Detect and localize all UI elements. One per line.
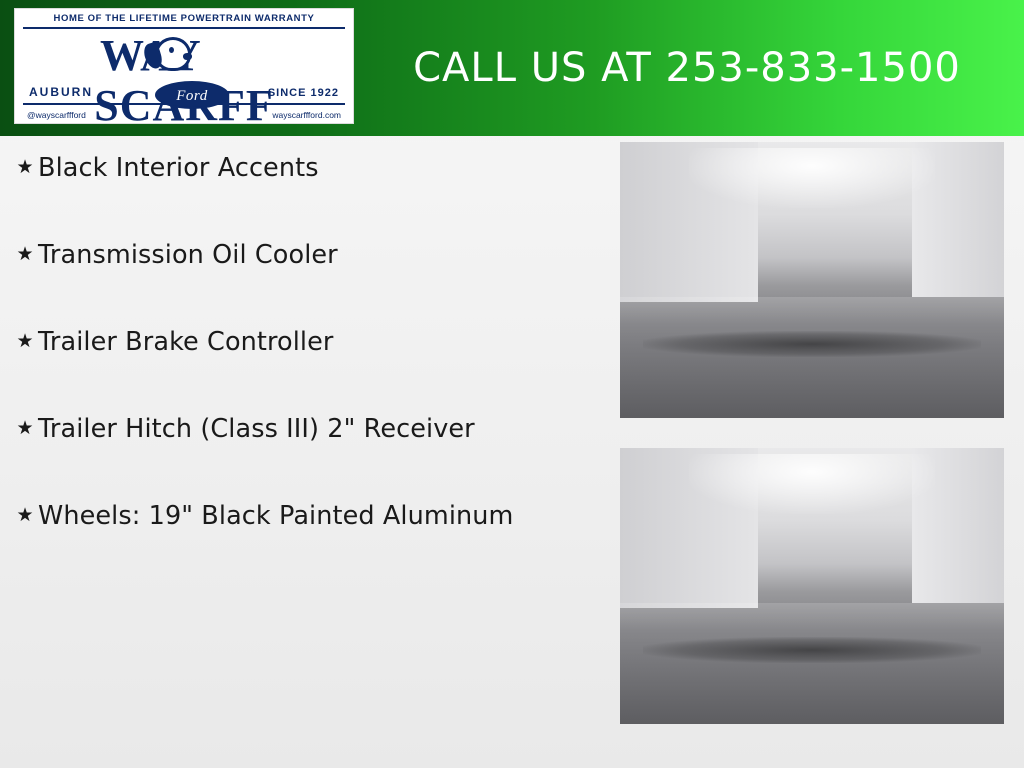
list-item: ★ Transmission Oil Cooler — [0, 239, 600, 272]
vehicle-photo-side-doors-open[interactable] — [620, 448, 1004, 724]
list-item: ★ Wheels: 19" Black Painted Aluminum — [0, 500, 600, 533]
star-bullet-icon: ★ — [12, 413, 38, 443]
dealer-logo[interactable]: HOME OF THE LIFETIME POWERTRAIN WARRANTY… — [14, 8, 354, 124]
call-us-phone-text[interactable]: CALL US AT 253-833-1500 — [360, 44, 1014, 92]
star-bullet-icon: ★ — [12, 500, 38, 530]
star-bullet-icon: ★ — [12, 152, 38, 182]
slide-content: ★ Black Interior Accents ★ Transmission … — [0, 136, 1024, 768]
logo-rule-bottom — [23, 103, 345, 105]
feature-label: Wheels: 19" Black Painted Aluminum — [38, 500, 586, 533]
feature-label: Trailer Brake Controller — [38, 326, 586, 359]
list-item: ★ Black Interior Accents — [0, 152, 600, 185]
bulldog-icon — [147, 31, 201, 81]
list-item: ★ Trailer Brake Controller — [0, 326, 600, 359]
logo-website: wayscarffford.com — [272, 110, 341, 120]
logo-since: SINCE 1922 — [268, 87, 339, 99]
logo-rule-top — [23, 27, 345, 29]
logo-city: AUBURN — [29, 85, 93, 99]
logo-tagline: HOME OF THE LIFETIME POWERTRAIN WARRANTY — [15, 13, 353, 24]
slide-page: HOME OF THE LIFETIME POWERTRAIN WARRANTY… — [0, 0, 1024, 768]
star-bullet-icon: ★ — [12, 326, 38, 356]
vehicle-photo-gallery — [620, 136, 1024, 768]
header-banner: HOME OF THE LIFETIME POWERTRAIN WARRANTY… — [0, 0, 1024, 136]
logo-social-handle: @wayscarffford — [27, 110, 86, 120]
vehicle-photo-front-three-quarter[interactable] — [620, 142, 1004, 418]
feature-label: Transmission Oil Cooler — [38, 239, 586, 272]
feature-list: ★ Black Interior Accents ★ Transmission … — [0, 136, 600, 768]
feature-label: Black Interior Accents — [38, 152, 586, 185]
list-item: ★ Trailer Hitch (Class III) 2" Receiver — [0, 413, 600, 446]
feature-label: Trailer Hitch (Class III) 2" Receiver — [38, 413, 586, 446]
star-bullet-icon: ★ — [12, 239, 38, 269]
